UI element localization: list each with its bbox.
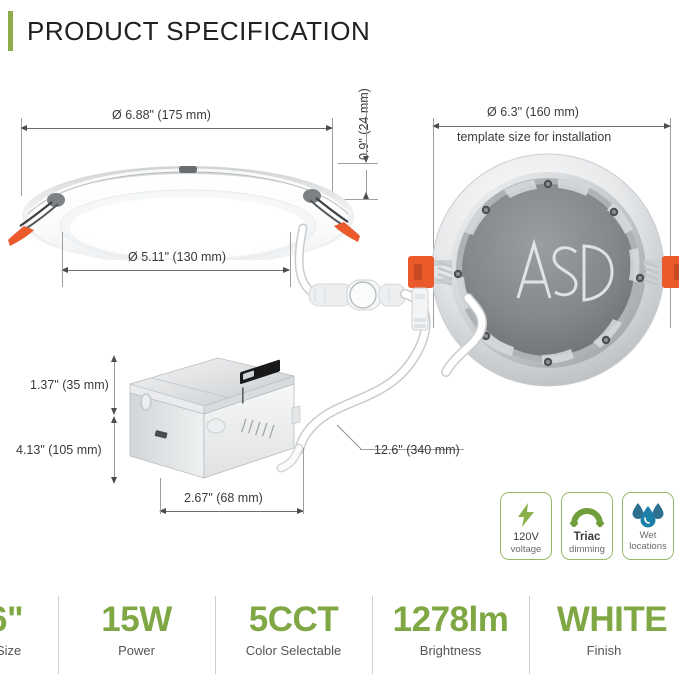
page-title: PRODUCT SPECIFICATION	[27, 12, 370, 50]
ext-line-inner-left	[62, 232, 63, 287]
feature-badges: 120V voltage Triac dimming	[500, 492, 674, 560]
dim-box-top-height: 1.37" (35 mm)	[30, 378, 109, 392]
callout-leader-line	[336, 424, 362, 450]
dim-line-box-width	[161, 511, 303, 512]
spec-item-brightness: 1278lm Brightness	[372, 583, 529, 679]
badge-wet-line2: locations	[629, 541, 667, 552]
spec-value-finish: WHITE	[557, 600, 667, 640]
spec-item-power: 15W Power	[58, 583, 215, 679]
downlight-back-illustration	[408, 148, 679, 398]
junction-box-illustration	[112, 352, 312, 492]
spec-label-finish: Finish	[587, 640, 622, 662]
spec-value-power: 15W	[101, 600, 171, 640]
spec-label-color: Color Selectable	[246, 640, 341, 662]
badge-voltage[interactable]: 120V voltage	[500, 492, 552, 560]
badge-wet-locations[interactable]: Wet locations	[622, 492, 674, 560]
cable-plug	[412, 288, 428, 330]
template-note: template size for installation	[457, 130, 611, 144]
badge-voltage-value: 120V	[513, 531, 539, 544]
badge-dimming-value: Triac	[574, 531, 601, 544]
ext-line-box-width-left	[160, 478, 161, 514]
dim-line-template	[434, 126, 670, 127]
spec-value-color: 5CCT	[249, 600, 338, 640]
badge-dimming[interactable]: Triac dimming	[561, 492, 613, 560]
badge-dimming-label: dimming	[569, 544, 605, 555]
dimming-arc-icon	[569, 500, 605, 530]
spec-item-finish: WHITE Finish	[529, 583, 679, 679]
badge-wet-line1: Wet	[640, 530, 657, 541]
badge-voltage-label: voltage	[511, 544, 542, 555]
water-drops-icon	[631, 500, 665, 530]
title-accent-bar	[8, 11, 13, 51]
ext-line-box-width-right	[303, 448, 304, 514]
dim-template-diameter: Ø 6.3" (160 mm)	[487, 105, 579, 119]
spec-label-size: Size	[0, 640, 21, 662]
spec-item-color: 5CCT Color Selectable	[215, 583, 372, 679]
spec-label-brightness: Brightness	[420, 640, 481, 662]
dim-outer-diameter: Ø 6.88" (175 mm)	[112, 108, 211, 122]
spec-item-size: 6" Size	[0, 583, 58, 679]
spec-value-brightness: 1278lm	[393, 600, 509, 640]
dim-line-outer-diameter	[22, 128, 332, 129]
dim-box-height: 4.13" (105 mm)	[16, 443, 102, 457]
spec-label-power: Power	[118, 640, 155, 662]
specification-summary-bar: 6" Size 15W Power 5CCT Color Selectable …	[0, 583, 679, 679]
quick-connector	[309, 280, 405, 310]
dim-cable-length: 12.6" (340 mm)	[374, 443, 460, 457]
spec-value-size: 6"	[0, 600, 23, 640]
dim-box-width: 2.67" (68 mm)	[184, 491, 263, 505]
lightning-bolt-icon	[515, 500, 537, 530]
product-specification-page: PRODUCT SPECIFICATION Ø 6.88" (175 mm) 0…	[0, 0, 679, 679]
dim-inner-diameter: Ø 5.11" (130 mm)	[128, 250, 226, 264]
